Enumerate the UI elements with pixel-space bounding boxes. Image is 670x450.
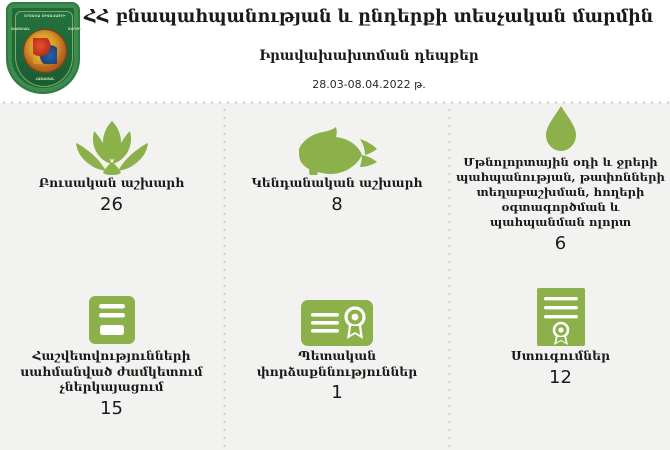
document-award-icon <box>451 286 670 348</box>
stat-card-value: 1 <box>226 381 448 404</box>
stat-card-reports-not-submitted: Հաշվետվությունների սահմանված ժամկետում չ… <box>0 286 223 450</box>
logo-text-left: ՏԵՍՉԱԿԱՆ <box>11 28 18 32</box>
stat-card-flora: Բուսական աշխարհ 26 <box>0 103 223 286</box>
stat-card-air-water-waste-soil: Մթնոլորտային օդի և ջրերի պահպանության, թ… <box>451 103 670 286</box>
stat-card-value: 6 <box>451 232 670 255</box>
stat-card-label: Պետական փորձաքննություններ <box>226 348 448 379</box>
stat-card-inspections: Ստուգումներ 12 <box>451 286 670 450</box>
stat-card-value: 26 <box>0 193 223 216</box>
stat-card-label: Ստուգումներ <box>451 348 670 364</box>
stat-card-label: Մթնոլորտային օդի և ջրերի պահպանության, թ… <box>451 155 670 230</box>
lotus-flower-icon <box>0 103 223 175</box>
stat-card-label: Կենդանական աշխարհ <box>226 175 448 191</box>
stat-card-fauna: Կենդանական աշխարհ 8 <box>226 103 448 286</box>
water-drop-icon <box>451 103 670 153</box>
statistics-grid: Բուսական աշխարհ 26 Կենդանական աշխարհ 8 <box>0 103 670 450</box>
logo-text-bottom: ՀԱՅԱՍՏԱՆ <box>20 77 70 81</box>
coat-of-arms-icon <box>24 30 66 72</box>
date-range-label: 28.03-08.04.2022 թ. <box>84 78 654 91</box>
logo-text-top: ՇՐՋԱԿԱ ՄԻՋԱՎԱՅՐԻ <box>18 14 72 19</box>
stat-card-state-expertise: Պետական փորձաքննություններ 1 <box>226 286 448 450</box>
stat-card-label: Հաշվետվությունների սահմանված ժամկետում չ… <box>0 348 223 395</box>
stat-card-value: 12 <box>451 366 670 389</box>
organization-logo: ՇՐՋԱԿԱ ՄԻՋԱՎԱՅՐԻ ՏԵՍՉԱԿԱՆ ՄԱՐՄԻՆ ՀԱՅԱՍՏԱ… <box>6 2 80 96</box>
certificate-badge-icon <box>226 286 448 348</box>
shield-icon: ՇՐՋԱԿԱ ՄԻՋԱՎԱՅՐԻ ՏԵՍՉԱԿԱՆ ՄԱՐՄԻՆ ՀԱՅԱՍՏԱ… <box>6 2 80 94</box>
logo-text-right: ՄԱՐՄԻՆ <box>68 28 75 32</box>
archive-box-icon <box>0 286 223 348</box>
stat-card-value: 8 <box>226 193 448 216</box>
infographic-page: ՇՐՋԱԿԱ ՄԻՋԱՎԱՅՐԻ ՏԵՍՉԱԿԱՆ ՄԱՐՄԻՆ ՀԱՅԱՍՏԱ… <box>0 0 670 450</box>
page-title: ՀՀ բնապահպանության և ընդերքի տեսչական մա… <box>84 7 664 27</box>
stat-card-label: Բուսական աշխարհ <box>0 175 223 191</box>
page-header: ՇՐՋԱԿԱ ՄԻՋԱՎԱՅՐԻ ՏԵՍՉԱԿԱՆ ՄԱՐՄԻՆ ՀԱՅԱՍՏԱ… <box>0 0 670 103</box>
fish-icon <box>226 103 448 175</box>
stat-card-value: 15 <box>0 397 223 420</box>
page-subtitle: Իրավախախտման դեպքեր <box>84 48 654 64</box>
